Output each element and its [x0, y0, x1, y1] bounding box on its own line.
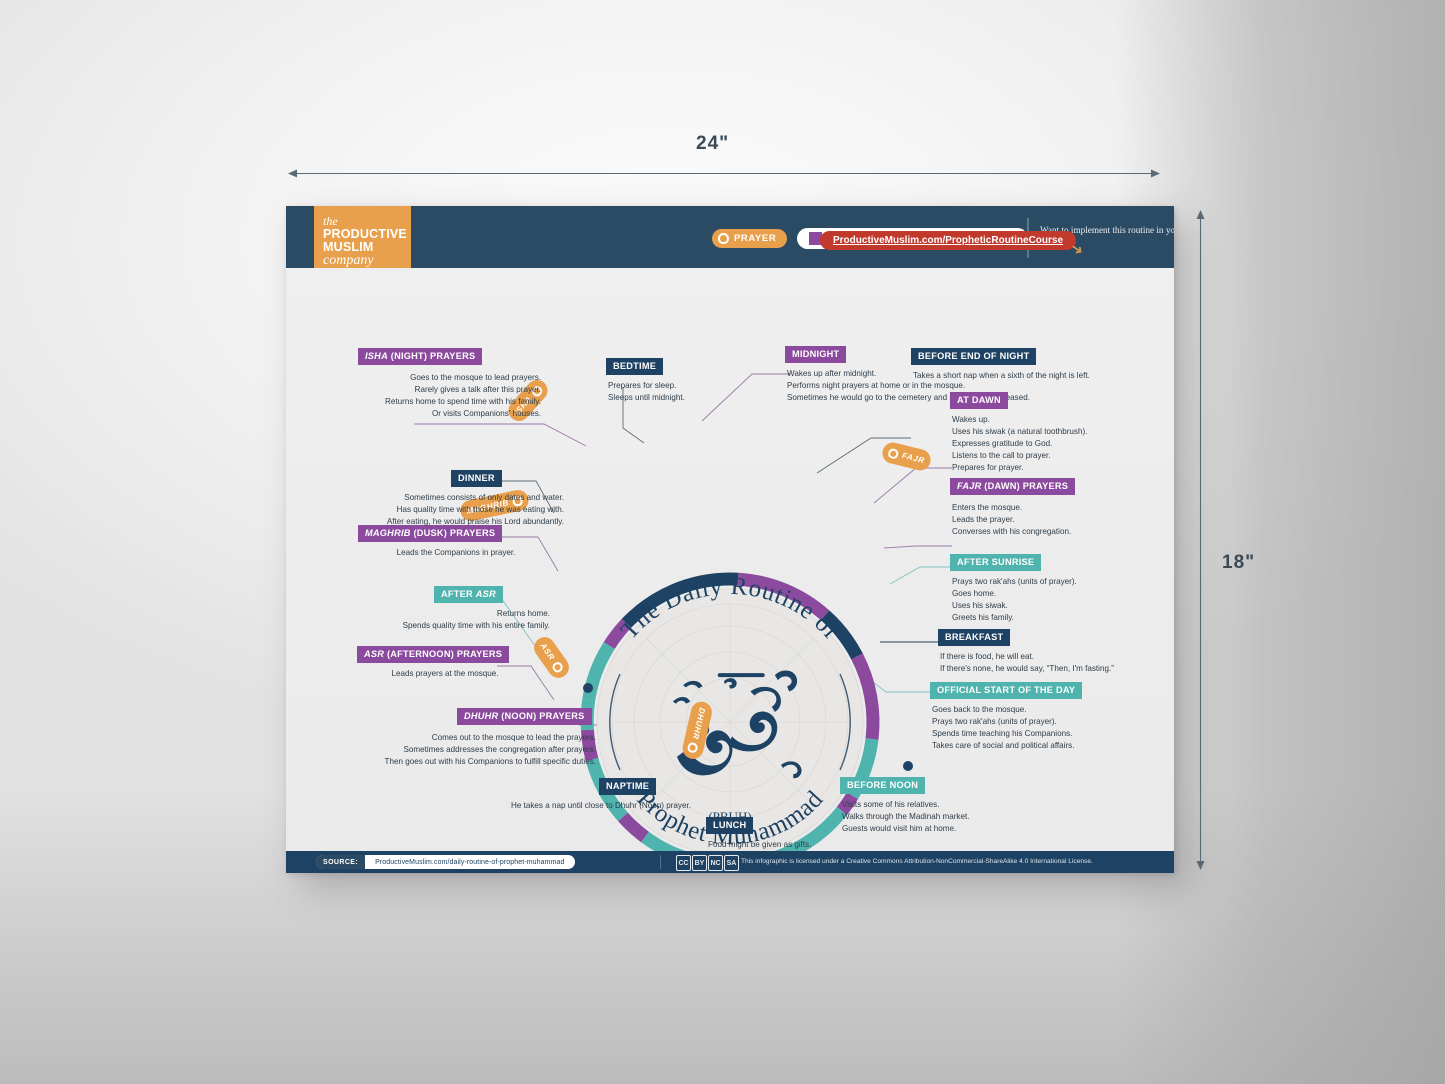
callout-label-naptime: NAPTIME — [599, 778, 656, 795]
callout-label-asr-rest: (AFTERNOON) PRAYERS — [384, 649, 502, 659]
callout-label-lunch: LUNCH — [706, 817, 753, 834]
callout-label-isha-prayers: ISHA (NIGHT) PRAYERS — [358, 348, 482, 365]
callout-label-official-start: OFFICIAL START OF THE DAY — [930, 682, 1082, 699]
callout-label-after-asr-rest: AFTER — [441, 589, 476, 599]
callout-label-midnight: MIDNIGHT — [785, 346, 846, 363]
callout-label-dhuhr-em: DHUHR — [464, 711, 498, 721]
badge-label-dhuhr: DHUHR — [691, 707, 707, 741]
callout-body-official-start: Goes back to the mosque. Prays two rak'a… — [932, 704, 1162, 752]
callout-body-isha-prayers: Goes to the mosque to lead prayers. Rare… — [296, 372, 541, 420]
prayer-badge-fajr[interactable]: FAJR — [880, 440, 933, 472]
callout-label-after-asr-em: ASR — [476, 589, 496, 599]
height-dimension-arrow — [1195, 210, 1206, 870]
prayer-legend-pill: PRAYER — [712, 229, 787, 248]
source-url: ProductiveMuslim.com/daily-routine-of-pr… — [365, 859, 574, 866]
logo-line-3: MUSLIM — [323, 241, 411, 254]
callout-body-dinner: Sometimes consists of only dates and wat… — [294, 492, 564, 528]
callout-body-naptime: He takes a nap until close to Dhuhr (Noo… — [436, 800, 766, 812]
prayer-ring-icon — [687, 742, 699, 754]
poster-canvas: The Daily Routine of Prophet Muhammad — [286, 268, 1174, 852]
course-cta-button[interactable]: ProductiveMuslim.com/PropheticRoutineCou… — [820, 231, 1076, 250]
callout-label-dinner: DINNER — [451, 470, 502, 487]
width-dimension-arrow — [288, 168, 1160, 179]
callout-label-before-end-of-night: BEFORE END OF NIGHT — [911, 348, 1036, 365]
poster-header: the PRODUCTIVE MUSLIM company PRAYER SPI… — [286, 206, 1174, 268]
callout-label-fajr-em: FAJR — [957, 481, 981, 491]
brand-logo: the PRODUCTIVE MUSLIM company — [314, 206, 411, 275]
callout-label-isha-rest: (NIGHT) PRAYERS — [388, 351, 475, 361]
logo-line-1: the — [323, 215, 411, 228]
callout-label-maghrib-rest: (DUSK) PRAYERS — [411, 528, 496, 538]
callout-label-fajr-rest: (DAWN) PRAYERS — [981, 481, 1068, 491]
callout-label-fajr-prayers: FAJR (DAWN) PRAYERS — [950, 478, 1075, 495]
width-dimension-label: 24" — [696, 133, 729, 155]
callout-label-after-sunrise: AFTER SUNRISE — [950, 554, 1041, 571]
footer-divider — [660, 855, 661, 869]
callout-body-after-asr: Returns home. Spends quality time with h… — [300, 608, 550, 632]
callout-label-isha-em: ISHA — [365, 351, 388, 361]
logo-line-4: company — [323, 254, 411, 269]
callout-label-before-noon: BEFORE NOON — [840, 777, 925, 794]
callout-body-dhuhr-prayers: Comes out to the mosque to lead the pray… — [306, 732, 596, 768]
callout-label-maghrib-em: MAGHRIB — [365, 528, 411, 538]
badge-label-fajr: FAJR — [901, 451, 926, 465]
cc-nc-icon: NC — [708, 855, 723, 871]
source-label: SOURCE: — [316, 855, 365, 869]
callout-label-bedtime: BEDTIME — [606, 358, 663, 375]
callout-label-at-dawn: AT DAWN — [950, 392, 1008, 409]
poster-footer: SOURCE: ProductiveMuslim.com/daily-routi… — [286, 851, 1174, 873]
callout-body-before-noon: Visits some of his relatives. Walks thro… — [842, 799, 1072, 835]
callout-label-dhuhr-rest: (NOON) PRAYERS — [498, 711, 584, 721]
cc-sa-icon: SA — [724, 855, 739, 871]
poster: the PRODUCTIVE MUSLIM company PRAYER SPI… — [286, 206, 1174, 873]
cc-by-icon: BY — [692, 855, 707, 871]
callout-label-after-asr: AFTER ASR — [434, 586, 503, 603]
prayer-ring-icon — [887, 447, 899, 459]
logo-line-2: PRODUCTIVE — [323, 228, 411, 241]
callout-label-breakfast: BREAKFAST — [938, 629, 1010, 646]
prayer-pill-label: PRAYER — [734, 233, 776, 244]
callout-body-breakfast: If there is food, he will eat. If there'… — [940, 651, 1170, 675]
creative-commons-icons: CC BY NC SA — [676, 855, 739, 871]
callout-body-fajr-prayers: Enters the mosque. Leads the prayer. Con… — [952, 502, 1167, 538]
callout-body-asr-prayers: Leads prayers at the mosque. — [330, 668, 560, 680]
source-pill[interactable]: SOURCE: ProductiveMuslim.com/daily-routi… — [316, 855, 575, 869]
callout-label-dhuhr-prayers: DHUHR (NOON) PRAYERS — [457, 708, 592, 725]
callout-label-asr-em: ASR — [364, 649, 384, 659]
badge-label-asr: ASR — [538, 641, 556, 662]
callout-body-after-sunrise: Prays two rak'ahs (units of prayer). Goe… — [952, 576, 1167, 624]
callout-body-maghrib-prayers: Leads the Companions in prayer. — [331, 547, 581, 559]
cc-icon: CC — [676, 855, 691, 871]
license-text: This infographic is licensed under a Cre… — [741, 858, 1093, 865]
callout-body-before-end-of-night: Takes a short nap when a sixth of the ni… — [913, 370, 1153, 382]
height-dimension-label: 18" — [1222, 552, 1255, 574]
prayer-ring-icon — [718, 233, 729, 244]
callout-label-asr-prayers: ASR (AFTERNOON) PRAYERS — [357, 646, 509, 663]
callout-body-at-dawn: Wakes up. Uses his siwak (a natural toot… — [952, 414, 1167, 474]
